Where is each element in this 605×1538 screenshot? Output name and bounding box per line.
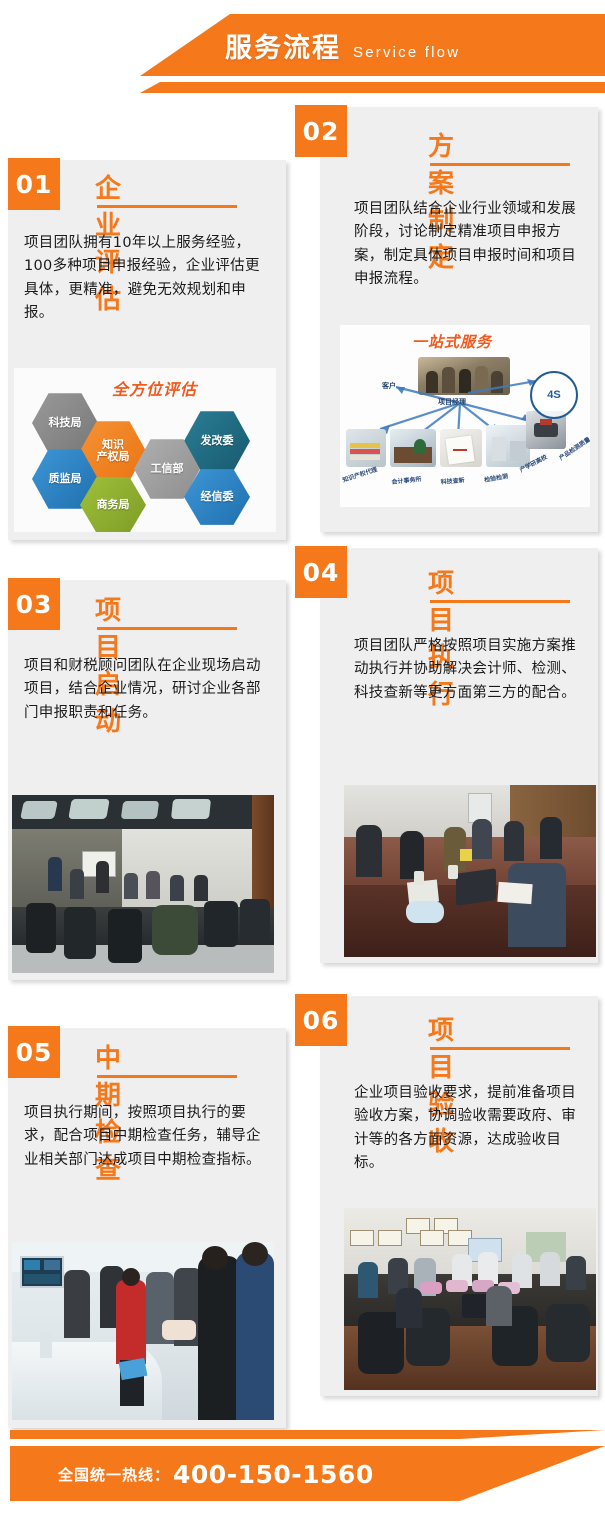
page-title: 服务流程 bbox=[225, 26, 341, 65]
header-title-group: 服务流程 Service flow bbox=[225, 26, 460, 65]
header-accent-stripe bbox=[0, 82, 605, 93]
hex-node-label: 科技局 bbox=[49, 417, 82, 429]
oss-quality-seal: 4S bbox=[530, 371, 578, 419]
hex-node-label: 发改委 bbox=[201, 435, 234, 447]
card-01-media-hex-diagram: 全方位评估 科技局 知识 产权局 发改委 质监局 工信部 商务局 经信委 bbox=[14, 368, 276, 532]
card-03-title-rule bbox=[97, 627, 237, 630]
page-footer: 全国统一热线： 400-150-1560 bbox=[0, 1430, 605, 1516]
card-06-photo-conference-hall bbox=[344, 1208, 596, 1390]
oss-node-inspection-testing bbox=[486, 425, 530, 467]
page-subtitle: Service flow bbox=[353, 44, 460, 61]
oss-seal-text: 4S bbox=[547, 389, 560, 401]
card-02-title-rule bbox=[430, 163, 570, 166]
card-04-photo-office-laptops bbox=[344, 785, 596, 957]
service-flow-poster: 服务流程 Service flow 01 企业评估 项目团队拥有10年以上服务经… bbox=[0, 0, 605, 1538]
card-03-photo-meeting-room bbox=[12, 795, 274, 973]
hex-node-label: 商务局 bbox=[97, 499, 130, 511]
card-05-photo-site-tour bbox=[12, 1242, 274, 1420]
card-06-number-badge: 06 bbox=[295, 994, 347, 1046]
hex-diagram-title: 全方位评估 bbox=[112, 376, 197, 400]
card-01-description: 项目团队拥有10年以上服务经验，100多种项目申报经验，企业评估更具体，更精准，… bbox=[24, 232, 262, 326]
card-05-description: 项目执行期间，按照项目执行的要求，配合项目中期检查任务，辅导企业相关部门达成项目… bbox=[24, 1102, 262, 1172]
one-stop-service-title: 一站式服务 bbox=[412, 331, 492, 352]
hex-node-label: 经信委 bbox=[201, 491, 234, 503]
oss-node-ip-agency bbox=[346, 429, 386, 467]
card-04-description: 项目团队严格按照项目实施方案推动执行并协助解决会计师、检测、科技查新等更方面第三… bbox=[354, 635, 586, 705]
card-03-number-badge: 03 bbox=[8, 578, 60, 630]
hotline-number[interactable]: 400-150-1560 bbox=[173, 1460, 374, 1489]
page-header: 服务流程 Service flow bbox=[0, 0, 605, 105]
card-02-media-one-stop-service: 一站式服务 bbox=[340, 325, 590, 507]
card-06-title-rule bbox=[430, 1047, 570, 1050]
hotline-label: 全国统一热线： bbox=[58, 1464, 170, 1485]
card-04-title-rule bbox=[430, 600, 570, 603]
card-05-number-badge: 05 bbox=[8, 1026, 60, 1078]
card-05-title-rule bbox=[97, 1075, 237, 1078]
card-03-description: 项目和财税顾问团队在企业现场启动项目，结合企业情况，研讨企业各部门申报职责和任务… bbox=[24, 655, 262, 725]
card-06-description: 企业项目验收要求，提前准备项目验收方案，协调验收需要政府、审计等的各方面资源，达… bbox=[354, 1082, 586, 1176]
card-01-number-badge: 01 bbox=[8, 158, 60, 210]
footer-hotline-group[interactable]: 全国统一热线： 400-150-1560 bbox=[58, 1460, 374, 1489]
oss-client-label: 客户 bbox=[382, 381, 396, 391]
hex-node-label: 工信部 bbox=[151, 463, 184, 475]
oss-node-sci-tech-search bbox=[440, 429, 482, 467]
oss-node-accounting-firm bbox=[390, 429, 436, 467]
card-02-number-badge: 02 bbox=[295, 105, 347, 157]
card-04-number-badge: 04 bbox=[295, 546, 347, 598]
hex-node-label: 质监局 bbox=[49, 473, 82, 485]
oss-center-label: 项目经理 bbox=[438, 397, 466, 407]
footer-accent-stripe bbox=[10, 1430, 605, 1439]
hex-node-label: 知识 产权局 bbox=[97, 439, 130, 464]
card-01-title-rule bbox=[97, 205, 237, 208]
card-02-description: 项目团队结合企业行业领域和发展阶段，讨论制定精准项目申报方案，制定具体项目申报时… bbox=[354, 198, 586, 292]
